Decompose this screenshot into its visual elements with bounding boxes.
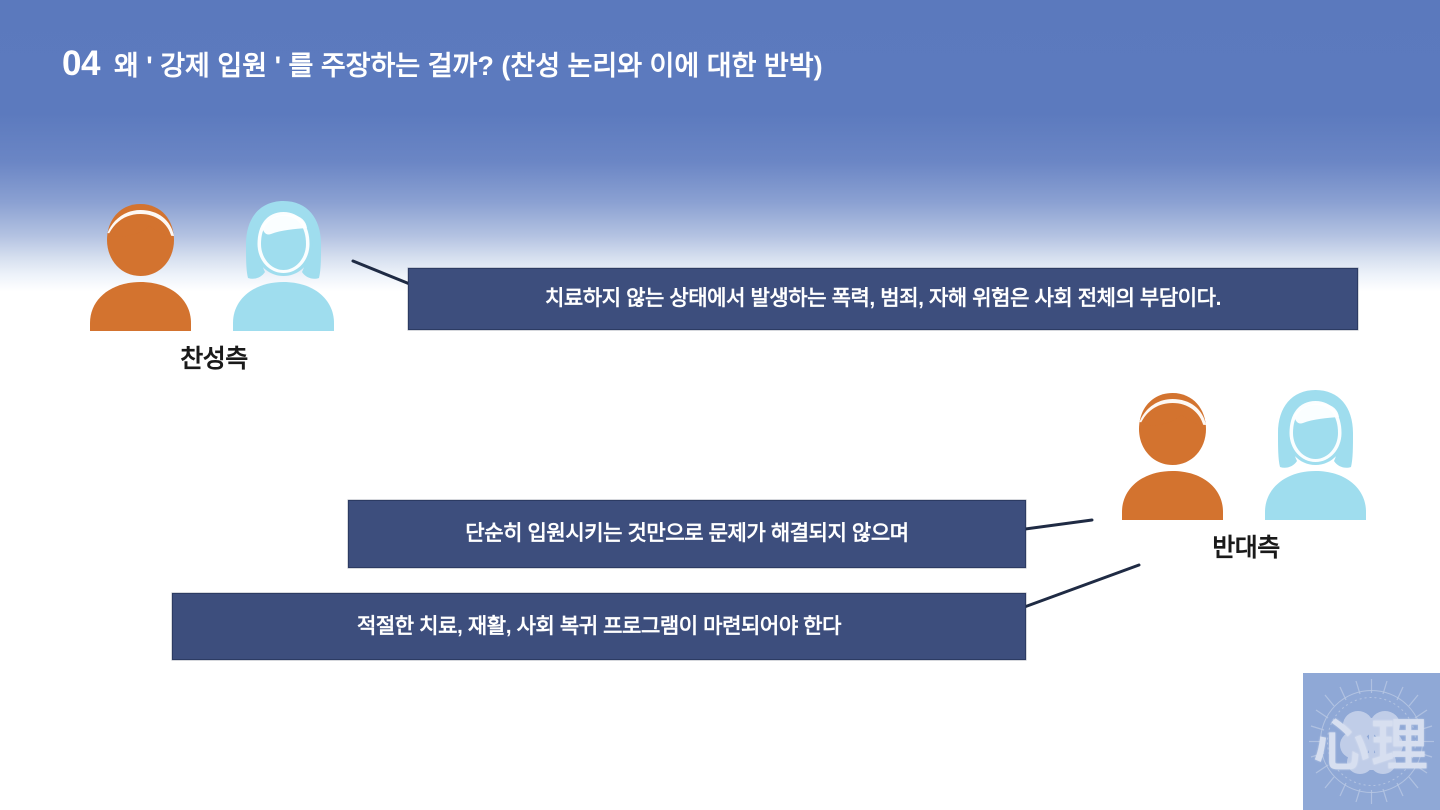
- message-box-con-argument-1: 단순히 입원시키는 것만으로 문제가 해결되지 않으며: [348, 500, 1026, 568]
- logo-glyph-text: 心理: [1314, 701, 1430, 782]
- pro-side-figures: [78, 196, 350, 331]
- psychology-logo: 心理: [1303, 673, 1440, 810]
- con-side-label: 반대측: [1110, 528, 1382, 564]
- presentation-slide: 04 왜 ' 강제 입원 ' 를 주장하는 걸까? (찬성 논리와 이에 대한 …: [0, 0, 1440, 810]
- con-side-group: 반대측: [1110, 385, 1382, 564]
- message-box-con-argument-2: 적절한 치료, 재활, 사회 복귀 프로그램이 마련되어야 한다: [172, 593, 1026, 660]
- person-male-icon: [78, 196, 203, 331]
- person-female-icon: [1253, 385, 1378, 520]
- slide-title: 04 왜 ' 강제 입원 ' 를 주장하는 걸까? (찬성 논리와 이에 대한 …: [62, 46, 823, 81]
- message-box-pro-argument-1: 치료하지 않는 상태에서 발생하는 폭력, 범죄, 자해 위험은 사회 전체의 …: [408, 268, 1358, 330]
- pro-side-group: 찬성측: [78, 196, 350, 375]
- pro-side-label: 찬성측: [78, 339, 350, 375]
- message-text: 치료하지 않는 상태에서 발생하는 폭력, 범죄, 자해 위험은 사회 전체의 …: [545, 286, 1221, 311]
- slide-number: 04: [62, 46, 100, 81]
- person-female-icon: [221, 196, 346, 331]
- slide-title-text: 왜 ' 강제 입원 ' 를 주장하는 걸까? (찬성 논리와 이에 대한 반박): [114, 53, 823, 80]
- message-text: 적절한 치료, 재활, 사회 복귀 프로그램이 마련되어야 한다: [357, 614, 841, 639]
- person-male-icon: [1110, 385, 1235, 520]
- message-text: 단순히 입원시키는 것만으로 문제가 해결되지 않으며: [465, 521, 908, 546]
- con-side-figures: [1110, 385, 1382, 520]
